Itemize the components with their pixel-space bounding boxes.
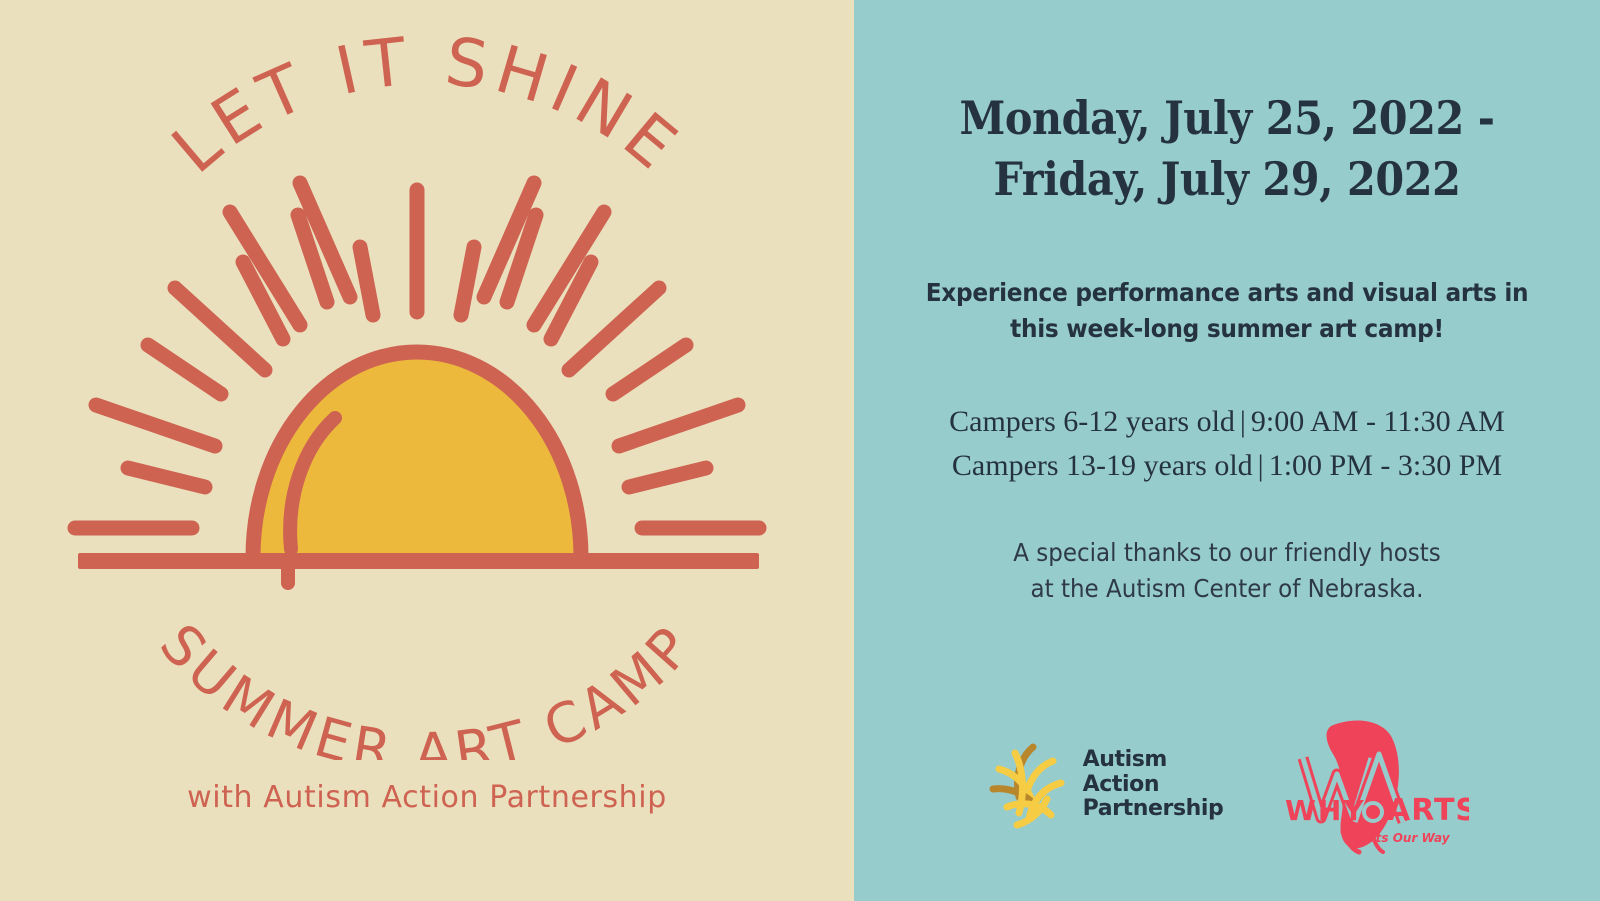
autism-action-partnership-logo: Autism Action Partnership [985,739,1224,831]
left-panel: LET IT SHINE [0,0,854,901]
host-thanks-note: A special thanks to our friendly hosts a… [904,535,1550,606]
starburst-arcs-icon [985,739,1071,831]
whyarts-logo: WHY ARTS Arts Our Way [1269,710,1469,860]
thanks-line-1: A special thanks to our friendly hosts [904,535,1550,571]
whyarts-arts-text: ARTS [1387,793,1469,828]
whyarts-tagline: Arts Our Way [1360,831,1451,845]
whyarts-why-text: WHY [1285,794,1366,827]
sponsor-logo-row: Autism Action Partnership [854,700,1600,870]
aap-line-1: Autism [1083,748,1224,773]
with-partnership-line: with Autism Action Partnership [0,780,854,815]
sun-baseline [78,553,759,569]
right-panel: Monday, July 25, 2022 - Friday, July 29,… [854,0,1600,901]
schedule-separator: | [1235,405,1251,438]
event-dates-headline: Monday, July 25, 2022 - Friday, July 29,… [911,88,1543,209]
headline-line-2: Friday, July 29, 2022 [911,149,1543,210]
aap-line-3: Partnership [1083,797,1224,822]
aap-wordmark: Autism Action Partnership [1083,748,1224,822]
arc-text-let-it-shine: LET IT SHINE [158,23,696,189]
event-description: Experience performance arts and visual a… [901,275,1554,346]
schedule-row: Campers 13-19 years old|1:00 PM - 3:30 P… [876,444,1578,488]
schedule-row: Campers 6-12 years old|9:00 AM - 11:30 A… [876,400,1578,444]
aap-line-2: Action [1083,773,1224,798]
schedule-time: 9:00 AM - 11:30 AM [1251,405,1505,438]
subhead-line-2: this week-long summer art camp! [904,311,1549,347]
schedule-separator: | [1253,449,1269,482]
arc-text-summer-art-camp: SUMMER ART CAMP [148,612,707,760]
subhead-line-1: Experience performance arts and visual a… [904,275,1549,311]
poster-canvas: LET IT SHINE [0,0,1600,901]
schedule-group: Campers 13-19 years old [952,449,1253,482]
headline-line-1: Monday, July 25, 2022 - [911,88,1543,149]
thanks-line-2: at the Autism Center of Nebraska. [904,571,1550,607]
schedule-time: 1:00 PM - 3:30 PM [1269,449,1502,482]
camper-schedule: Campers 6-12 years old|9:00 AM - 11:30 A… [876,400,1578,487]
sun-logo-group: LET IT SHINE [0,0,854,760]
schedule-group: Campers 6-12 years old [949,405,1235,438]
